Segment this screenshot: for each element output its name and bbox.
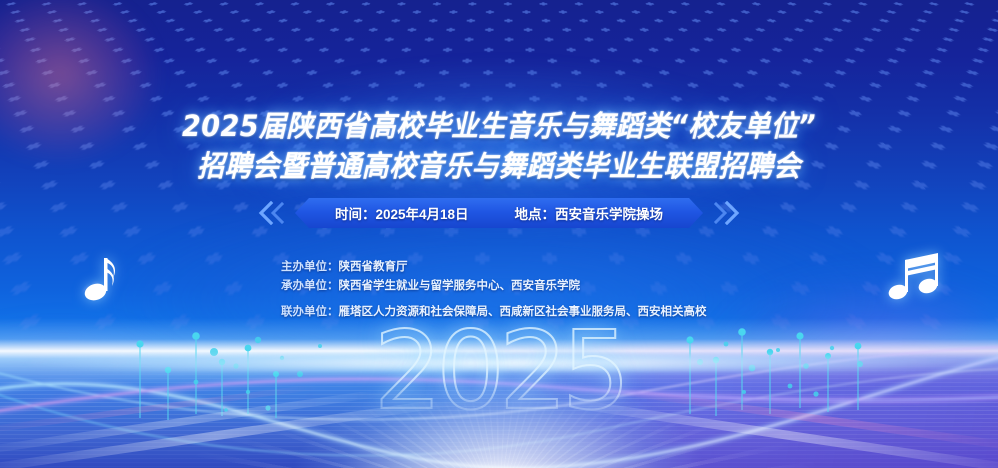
organizer-row: 承办单位：陕西省学生就业与留学服务中心、西安音乐学院 [281,277,707,296]
event-location: 地点：西安音乐学院操场 [515,203,664,223]
double-chevron-left-icon [255,201,285,225]
title-line-1: 2025届陕西省高校毕业生音乐与舞蹈类“校友单位” [35,106,963,146]
organizer-label: 主办单位： [281,261,339,273]
double-chevron-right-icon [713,201,743,225]
music-note-beamed-icon [888,248,944,306]
organizer-value: 陕西省学生就业与留学服务中心、西安音乐学院 [339,280,581,292]
event-poster: 2025 2025届陕西省高校毕业生音乐与舞蹈类“校友单位” 招聘会暨普通高校音… [0,0,998,468]
organizer-value: 雁塔区人力资源和社会保障局、西咸新区社会事业服务局、西安相关高校 [339,306,707,318]
organizer-label: 承办单位： [281,280,339,292]
poster-content: 2025届陕西省高校毕业生音乐与舞蹈类“校友单位” 招聘会暨普通高校音乐与舞蹈类… [0,0,998,468]
organizer-value: 陕西省教育厅 [339,261,408,273]
organizer-list: 主办单位：陕西省教育厅 承办单位：陕西省学生就业与留学服务中心、西安音乐学院 联… [281,258,707,322]
organizer-label: 联办单位： [281,306,339,318]
event-time: 时间：2025年4月18日 [335,203,469,223]
event-info-bar: 时间：2025年4月18日 地点：西安音乐学院操场 [0,198,998,228]
info-ribbon: 时间：2025年4月18日 地点：西安音乐学院操场 [295,198,703,228]
organizer-row: 主办单位：陕西省教育厅 [281,258,707,277]
poster-title: 2025届陕西省高校毕业生音乐与舞蹈类“校友单位” 招聘会暨普通高校音乐与舞蹈类… [0,106,998,186]
title-line-2: 招聘会暨普通高校音乐与舞蹈类毕业生联盟招聘会 [35,146,963,186]
music-note-single-icon [78,250,124,306]
organizer-row: 联办单位：雁塔区人力资源和社会保障局、西咸新区社会事业服务局、西安相关高校 [281,303,707,322]
